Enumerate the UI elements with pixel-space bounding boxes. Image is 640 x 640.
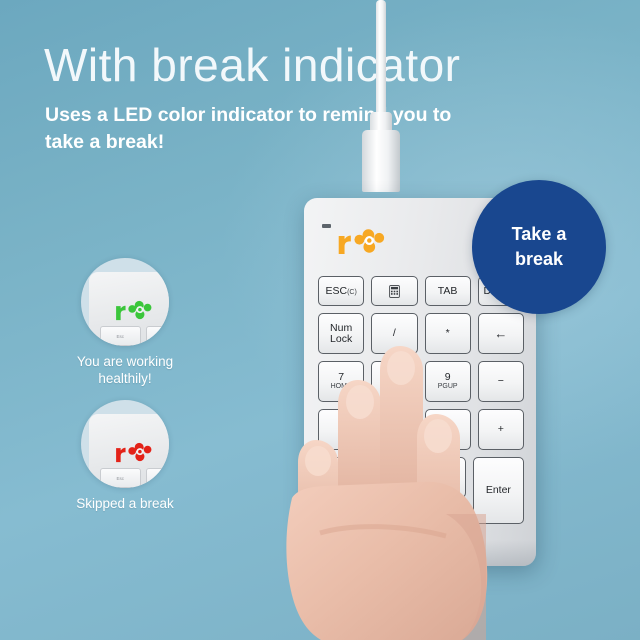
status-led-indicator	[322, 224, 331, 228]
r-go-logo-red-icon	[114, 440, 156, 464]
led-card-caption: Skipped a break	[50, 495, 200, 512]
badge-label: Take a break	[493, 222, 585, 272]
key-esc[interactable]: ESC(C)	[318, 276, 364, 306]
page-title: With break indicator	[44, 38, 584, 92]
mini-keyboard: Esc A	[89, 272, 169, 346]
mini-key-row: Esc A	[100, 326, 169, 346]
led-card-healthy: Esc A You are working healthily!	[50, 258, 200, 387]
page-subtitle: Uses a LED color indicator to remind you…	[45, 102, 475, 156]
led-circle: Esc A	[81, 258, 169, 346]
r-go-logo-orange-icon	[336, 226, 390, 256]
mini-key: Esc	[100, 326, 141, 346]
calculator-icon	[389, 285, 400, 298]
r-go-logo-green-icon	[114, 298, 156, 322]
hand-illustration	[250, 318, 510, 640]
mini-key: Esc	[100, 468, 141, 488]
usb-cable-plug	[362, 130, 400, 192]
mini-keyboard: Esc A	[89, 414, 169, 488]
key-label: TAB	[438, 286, 458, 297]
take-a-break-badge: Take a break	[472, 180, 606, 314]
promo-image-scene: With break indicator Uses a LED color in…	[0, 0, 640, 640]
key-calculator[interactable]	[371, 276, 417, 306]
usb-cable	[376, 0, 386, 120]
key-sublabel: (C)	[347, 289, 357, 296]
key-label: ESC	[325, 285, 347, 297]
mini-key-row: Esc A	[100, 468, 169, 488]
led-circle: Esc A	[81, 400, 169, 488]
led-card-caption: You are working healthily!	[50, 353, 200, 387]
mini-key: A	[146, 468, 170, 488]
mini-key: A	[146, 326, 170, 346]
led-card-skipped: Esc A Skipped a break	[50, 400, 200, 512]
key-tab[interactable]: TAB	[425, 276, 471, 306]
